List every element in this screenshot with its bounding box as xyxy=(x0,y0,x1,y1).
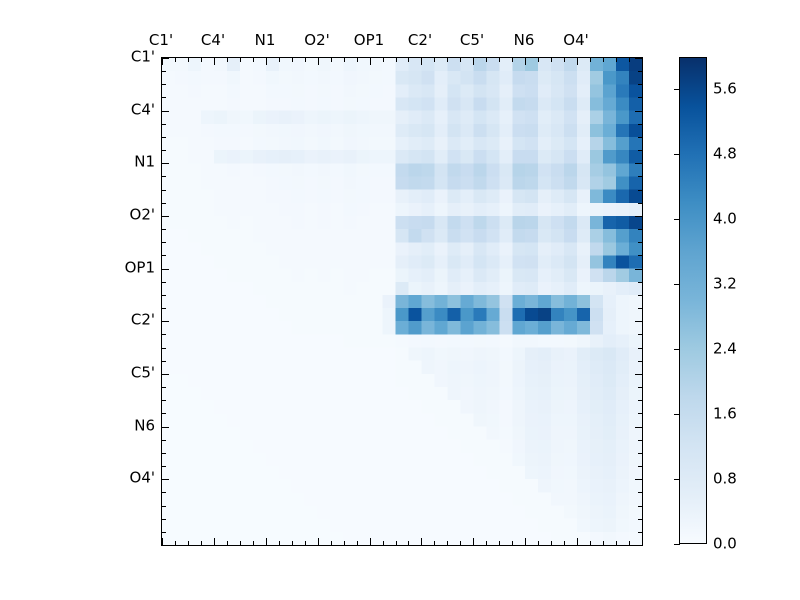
colorbar-tick xyxy=(674,284,680,285)
colorbar-tick xyxy=(674,219,680,220)
yaxis-tick xyxy=(162,453,166,454)
yaxis-tick xyxy=(162,163,169,164)
colorbar-tick-label: 2.4 xyxy=(713,342,737,357)
colorbar-tick-label: 4.0 xyxy=(713,212,737,227)
yaxis-tick xyxy=(638,150,642,151)
xaxis-tick xyxy=(447,58,448,62)
xaxis-tick xyxy=(473,538,474,545)
xaxis-tick xyxy=(383,541,384,545)
xaxis-tick xyxy=(590,541,591,545)
colorbar-tick xyxy=(674,154,680,155)
xaxis-tick xyxy=(486,541,487,545)
xaxis-tick xyxy=(292,58,293,62)
colorbar-tick xyxy=(674,544,680,545)
yaxis-tick xyxy=(162,413,166,414)
yaxis-tick xyxy=(635,216,642,217)
xaxis-tick-label: OP1 xyxy=(354,33,384,48)
xaxis-tick xyxy=(499,58,500,62)
xaxis-tick xyxy=(370,58,371,65)
yaxis-tick xyxy=(162,176,166,177)
yaxis-tick xyxy=(638,387,642,388)
xaxis-tick xyxy=(396,58,397,62)
yaxis-tick xyxy=(638,453,642,454)
xaxis-tick xyxy=(331,541,332,545)
xaxis-tick xyxy=(201,541,202,545)
xaxis-tick xyxy=(188,58,189,62)
yaxis-tick xyxy=(638,242,642,243)
yaxis-tick xyxy=(635,163,642,164)
colorbar-tick xyxy=(674,349,680,350)
xaxis-tick xyxy=(577,58,578,65)
yaxis-tick xyxy=(162,440,166,441)
yaxis-tick xyxy=(162,242,166,243)
xaxis-tick xyxy=(642,58,643,62)
yaxis-tick xyxy=(638,532,642,533)
xaxis-tick xyxy=(175,541,176,545)
xaxis-tick xyxy=(305,58,306,62)
xaxis-tick xyxy=(188,541,189,545)
yaxis-tick xyxy=(162,321,169,322)
yaxis-tick xyxy=(162,492,166,493)
yaxis-tick xyxy=(162,216,169,217)
yaxis-tick xyxy=(638,348,642,349)
xaxis-tick xyxy=(434,541,435,545)
yaxis-tick xyxy=(635,374,642,375)
yaxis-tick xyxy=(638,519,642,520)
yaxis-tick xyxy=(162,361,166,362)
colorbar: 0.00.81.62.43.24.04.85.6 xyxy=(679,57,707,544)
xaxis-tick xyxy=(616,541,617,545)
yaxis-tick-label: C4' xyxy=(131,103,155,118)
xaxis-tick xyxy=(240,541,241,545)
xaxis-tick xyxy=(421,538,422,545)
xaxis-tick-label: C2' xyxy=(408,33,432,48)
xaxis-tick xyxy=(629,58,630,62)
xaxis-tick xyxy=(266,538,267,545)
xaxis-tick xyxy=(292,541,293,545)
yaxis-tick xyxy=(162,282,166,283)
xaxis-tick xyxy=(266,58,267,65)
yaxis-tick xyxy=(638,84,642,85)
yaxis-tick xyxy=(162,150,166,151)
yaxis-tick xyxy=(162,374,169,375)
yaxis-tick-label: C5' xyxy=(131,366,155,381)
yaxis-tick xyxy=(638,97,642,98)
xaxis-tick xyxy=(499,541,500,545)
yaxis-tick xyxy=(638,492,642,493)
xaxis-tick xyxy=(318,58,319,65)
yaxis-tick-label: N6 xyxy=(134,419,155,434)
yaxis-tick xyxy=(638,229,642,230)
colorbar-tick xyxy=(674,89,680,90)
heatmap-axes xyxy=(161,57,643,546)
xaxis-tick xyxy=(564,58,565,62)
yaxis-tick xyxy=(162,348,166,349)
xaxis-tick-label: C5' xyxy=(460,33,484,48)
yaxis-tick xyxy=(162,334,166,335)
yaxis-tick xyxy=(638,334,642,335)
colorbar-tick xyxy=(674,479,680,480)
xaxis-tick xyxy=(370,538,371,545)
matplotlib-figure: C1'C4'N1O2'OP1C2'C5'N6O4' C1'C4'N1O2'OP1… xyxy=(0,0,800,600)
xaxis-tick xyxy=(253,58,254,62)
yaxis-tick xyxy=(638,190,642,191)
yaxis-tick xyxy=(638,176,642,177)
xaxis-tick xyxy=(162,58,163,65)
yaxis-tick xyxy=(162,97,166,98)
xaxis-tick xyxy=(551,541,552,545)
xaxis-tick xyxy=(214,58,215,65)
xaxis-tick xyxy=(642,541,643,545)
yaxis-tick xyxy=(635,58,642,59)
yaxis-tick xyxy=(162,519,166,520)
xaxis-tick xyxy=(227,541,228,545)
yaxis-tick-label: O2' xyxy=(130,208,155,223)
xaxis-tick xyxy=(396,541,397,545)
yaxis-tick xyxy=(638,400,642,401)
yaxis-tick xyxy=(162,58,169,59)
yaxis-tick xyxy=(162,308,166,309)
xaxis-tick xyxy=(408,58,409,62)
yaxis-tick xyxy=(635,111,642,112)
yaxis-tick xyxy=(638,295,642,296)
xaxis-tick-label: N6 xyxy=(514,33,535,48)
yaxis-tick xyxy=(162,400,166,401)
yaxis-tick xyxy=(162,124,166,125)
xaxis-tick xyxy=(175,58,176,62)
xaxis-tick xyxy=(603,541,604,545)
yaxis-tick-label: C2' xyxy=(131,313,155,328)
xaxis-tick-label: N1 xyxy=(255,33,276,48)
xaxis-tick-label: O4' xyxy=(563,33,588,48)
xaxis-tick xyxy=(227,58,228,62)
xaxis-tick xyxy=(344,58,345,62)
yaxis-tick xyxy=(162,111,169,112)
xaxis-tick xyxy=(447,541,448,545)
yaxis-tick xyxy=(635,479,642,480)
xaxis-tick xyxy=(551,58,552,62)
yaxis-tick xyxy=(162,479,169,480)
yaxis-tick xyxy=(162,255,166,256)
yaxis-tick xyxy=(638,545,642,546)
xaxis-tick xyxy=(318,538,319,545)
yaxis-tick xyxy=(162,532,166,533)
yaxis-tick xyxy=(162,545,166,546)
yaxis-tick xyxy=(638,282,642,283)
xaxis-tick xyxy=(486,58,487,62)
yaxis-tick xyxy=(635,427,642,428)
xaxis-tick-label: C4' xyxy=(201,33,225,48)
xaxis-tick xyxy=(357,541,358,545)
xaxis-tick xyxy=(525,538,526,545)
yaxis-tick xyxy=(638,203,642,204)
yaxis-tick xyxy=(162,84,166,85)
yaxis-tick xyxy=(162,295,166,296)
xaxis-tick xyxy=(240,58,241,62)
xaxis-tick xyxy=(214,538,215,545)
yaxis-tick xyxy=(162,387,166,388)
xaxis-tick xyxy=(525,58,526,65)
colorbar-tick-label: 1.6 xyxy=(713,407,737,422)
xaxis-tick xyxy=(564,541,565,545)
xaxis-tick xyxy=(460,58,461,62)
yaxis-tick-label: N1 xyxy=(134,155,155,170)
xaxis-tick xyxy=(460,541,461,545)
xaxis-tick xyxy=(383,58,384,62)
yaxis-tick xyxy=(635,269,642,270)
xaxis-tick xyxy=(357,58,358,62)
xaxis-tick xyxy=(344,541,345,545)
colorbar-gradient xyxy=(679,57,707,544)
yaxis-tick xyxy=(162,137,166,138)
colorbar-tick-label: 0.0 xyxy=(713,537,737,552)
xaxis-tick xyxy=(305,541,306,545)
xaxis-tick xyxy=(577,538,578,545)
xaxis-tick xyxy=(162,538,163,545)
xaxis-tick xyxy=(538,541,539,545)
yaxis-tick xyxy=(162,203,166,204)
yaxis-tick xyxy=(638,124,642,125)
colorbar-tick xyxy=(674,414,680,415)
yaxis-tick xyxy=(162,506,166,507)
xaxis-tick xyxy=(590,58,591,62)
xaxis-tick xyxy=(421,58,422,65)
yaxis-tick xyxy=(162,190,166,191)
colorbar-tick-label: 3.2 xyxy=(713,277,737,292)
yaxis-tick xyxy=(638,361,642,362)
xaxis-tick xyxy=(331,58,332,62)
xaxis-tick xyxy=(253,541,254,545)
xaxis-tick-label: C1' xyxy=(149,33,173,48)
yaxis-tick xyxy=(162,269,169,270)
yaxis-tick xyxy=(638,413,642,414)
yaxis-tick xyxy=(162,71,166,72)
xaxis-tick xyxy=(279,541,280,545)
yaxis-tick xyxy=(638,137,642,138)
yaxis-tick xyxy=(162,466,166,467)
yaxis-tick-label: O4' xyxy=(130,471,155,486)
xaxis-tick xyxy=(473,58,474,65)
yaxis-tick xyxy=(638,255,642,256)
yaxis-tick xyxy=(638,506,642,507)
xaxis-tick xyxy=(201,58,202,62)
yaxis-tick xyxy=(638,308,642,309)
xaxis-tick-label: O2' xyxy=(304,33,329,48)
xaxis-tick xyxy=(512,58,513,62)
yaxis-tick xyxy=(638,71,642,72)
xaxis-tick xyxy=(279,58,280,62)
xaxis-tick xyxy=(434,58,435,62)
colorbar-tick-label: 0.8 xyxy=(713,472,737,487)
heatmap-image xyxy=(162,58,642,545)
yaxis-tick xyxy=(638,466,642,467)
yaxis-tick xyxy=(638,440,642,441)
xaxis-tick xyxy=(616,58,617,62)
colorbar-tick-label: 5.6 xyxy=(713,82,737,97)
yaxis-tick-label: C1' xyxy=(131,50,155,65)
xaxis-tick xyxy=(512,541,513,545)
xaxis-tick xyxy=(538,58,539,62)
yaxis-tick xyxy=(162,427,169,428)
xaxis-tick xyxy=(629,541,630,545)
yaxis-tick-label: OP1 xyxy=(125,261,155,276)
yaxis-tick xyxy=(162,229,166,230)
colorbar-tick-label: 4.8 xyxy=(713,147,737,162)
yaxis-tick xyxy=(635,321,642,322)
xaxis-tick xyxy=(408,541,409,545)
xaxis-tick xyxy=(603,58,604,62)
